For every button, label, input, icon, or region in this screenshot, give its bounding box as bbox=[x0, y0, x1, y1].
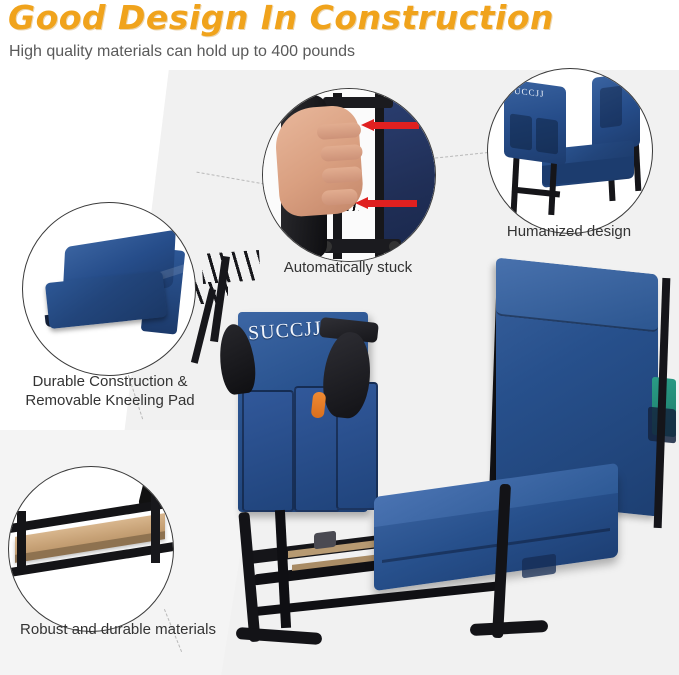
lock-rail-right bbox=[375, 93, 384, 259]
seat-pull-tab bbox=[522, 554, 556, 579]
finger-4 bbox=[321, 188, 358, 205]
inset-humanized-design: SUCCJJ bbox=[487, 68, 653, 234]
lock-fabric-edge bbox=[381, 89, 436, 261]
latch-icon bbox=[314, 531, 336, 550]
inset-locking-mechanism bbox=[262, 88, 436, 262]
hum-pocket-left-2 bbox=[536, 117, 558, 154]
caption-line-2: Removable Kneeling Pad bbox=[4, 391, 216, 410]
arrow-left-lower-icon bbox=[355, 197, 417, 209]
main-product-image: SUCCJJ bbox=[196, 258, 666, 668]
foot-right bbox=[470, 620, 549, 636]
foot-left bbox=[236, 627, 323, 645]
finger-2 bbox=[320, 144, 363, 162]
inset-kneeling-pad bbox=[22, 202, 196, 376]
hum-pocket-right bbox=[600, 86, 622, 129]
frame-post-left bbox=[17, 511, 26, 573]
caption-automatically-stuck: Automatically stuck bbox=[262, 258, 434, 277]
caption-durable-construction: Durable Construction & Removable Kneelin… bbox=[4, 372, 216, 410]
frame-post-right bbox=[151, 489, 160, 563]
finger-3 bbox=[322, 166, 363, 184]
inset-steel-frame bbox=[8, 466, 174, 632]
caption-line-1: Durable Construction & bbox=[4, 372, 216, 391]
infographic-canvas: Good Design In Construction High quality… bbox=[0, 0, 679, 675]
finger-1 bbox=[316, 122, 361, 140]
page-subtitle: High quality materials can hold up to 40… bbox=[9, 43, 355, 61]
hum-pocket-left-1 bbox=[510, 113, 532, 150]
caption-robust-materials: Robust and durable materials bbox=[2, 620, 234, 639]
lock-bolt-right-icon bbox=[389, 241, 400, 252]
pouch-pocket-1 bbox=[242, 390, 294, 512]
page-title: Good Design In Construction bbox=[8, 0, 554, 38]
hand-grip-icon bbox=[273, 104, 364, 218]
arrow-left-upper-icon bbox=[361, 119, 419, 131]
caption-humanized-design: Humanized design bbox=[487, 222, 651, 241]
rake-head-icon bbox=[201, 250, 261, 284]
